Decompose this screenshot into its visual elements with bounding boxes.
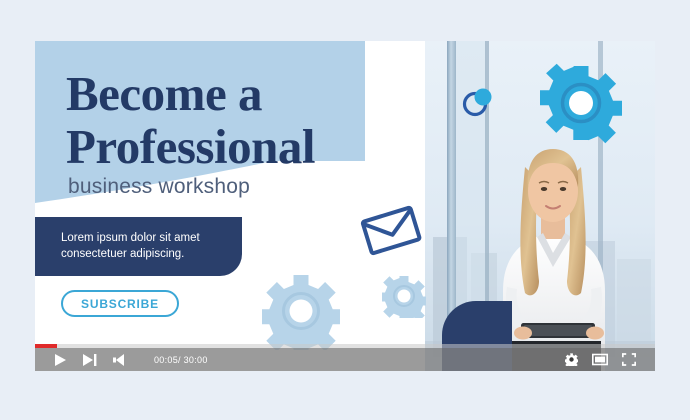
promo-line-1: Lorem ipsum dolor sit amet (61, 230, 224, 246)
video-control-bar: 00:05/ 30:00 (35, 348, 655, 371)
volume-button[interactable] (112, 353, 126, 367)
progress-played (35, 344, 57, 348)
theater-mode-icon[interactable] (592, 353, 608, 366)
play-button[interactable] (54, 353, 67, 367)
gear-light-icon (262, 272, 340, 350)
gear-large-icon (540, 62, 622, 144)
gear-icon[interactable] (565, 353, 578, 366)
fullscreen-icon[interactable] (622, 353, 636, 366)
envelope-icon (360, 204, 422, 256)
promo-line-2: consectetuer adipiscing. (61, 246, 224, 262)
promo-text-box: Lorem ipsum dolor sit amet consectetuer … (35, 217, 242, 276)
subscribe-button[interactable]: SUBSCRIBE (61, 290, 179, 317)
video-player-card: Become a Professional business workshop … (35, 41, 655, 371)
headline: Become a Professional (66, 67, 486, 173)
next-button[interactable] (82, 353, 97, 367)
progress-bar[interactable] (35, 344, 655, 348)
headline-line-2: Professional (66, 120, 486, 173)
timecode-label: 00:05/ 30:00 (154, 355, 208, 365)
gear-small-icon (382, 274, 426, 318)
headline-line-1: Become a (66, 67, 486, 120)
subtitle: business workshop (68, 175, 250, 199)
